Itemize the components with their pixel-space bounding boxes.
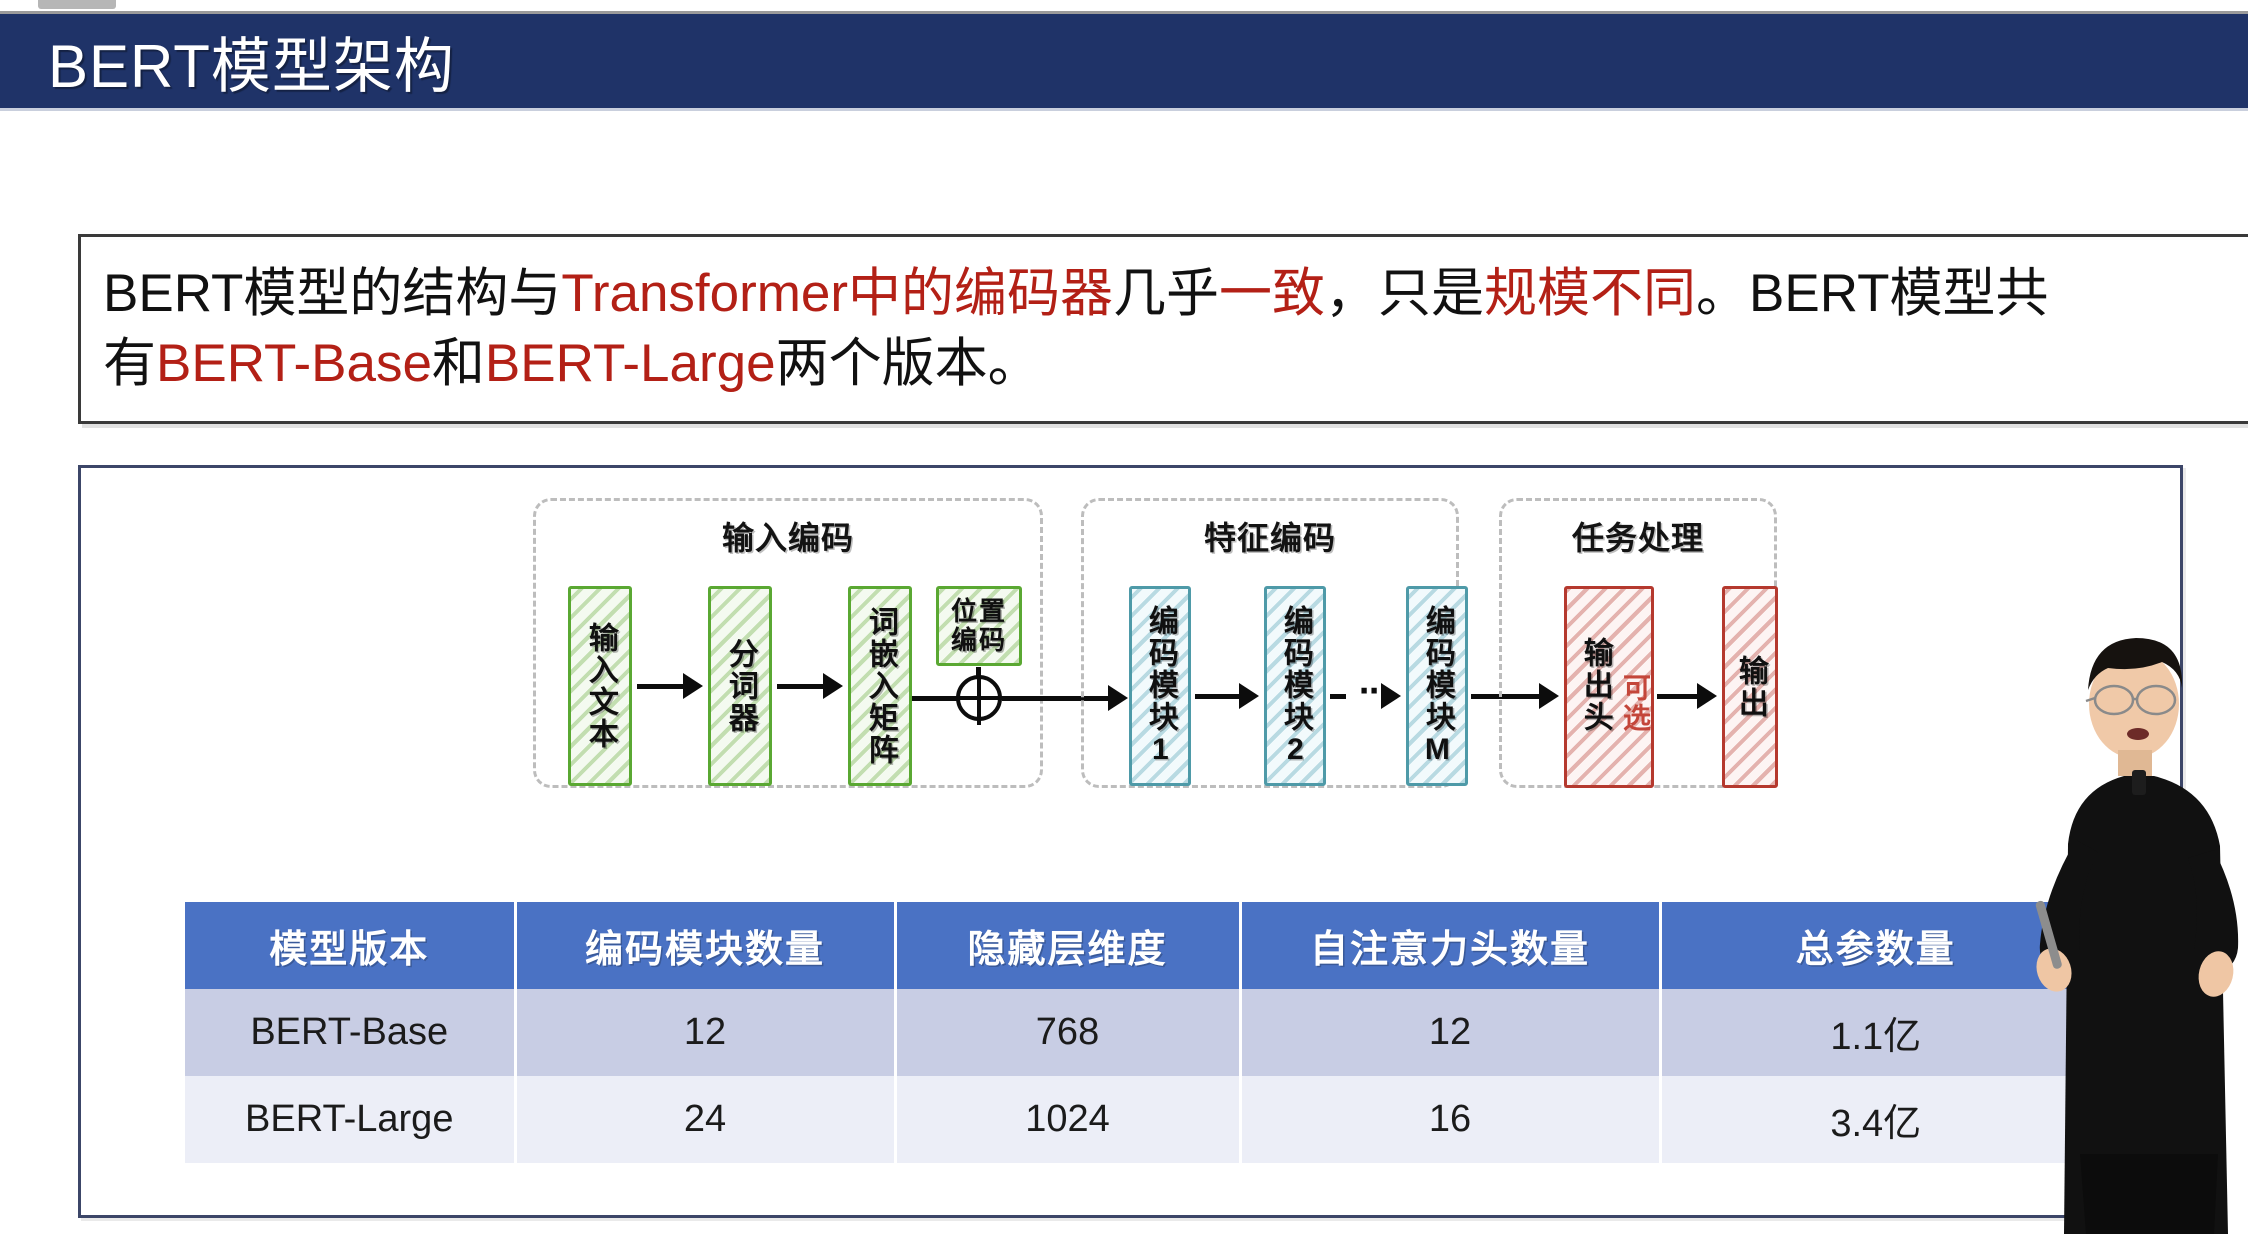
presenter-right-hand bbox=[2194, 948, 2238, 1001]
group-title-feature-encoding: 特征编码 bbox=[1084, 513, 1456, 559]
block-output-head: 输出头 可选 bbox=[1564, 586, 1654, 788]
title-bar-top-divider bbox=[0, 11, 2248, 14]
window-fragment bbox=[38, 0, 116, 9]
model-comparison-table: 模型版本 编码模块数量 隐藏层维度 自注意力头数量 总参数量 BERT-Base… bbox=[185, 902, 2090, 1163]
cell-params: 3.4亿 bbox=[1660, 1076, 2090, 1163]
arrow-head-icon bbox=[683, 673, 703, 699]
arrow-head-icon bbox=[1239, 683, 1259, 709]
cell-encoder-blocks: 12 bbox=[515, 989, 895, 1076]
cell-hidden-dim: 768 bbox=[895, 989, 1240, 1076]
desc-seg-5: ，只是 bbox=[1325, 264, 1484, 323]
desc2-seg-2: BERT-Base bbox=[156, 334, 432, 393]
desc-seg-2: Transformer中的编码器 bbox=[561, 264, 1113, 323]
block-label: 输出 bbox=[1734, 655, 1766, 719]
table-row: BERT-Base 12 768 12 1.1亿 bbox=[185, 989, 2090, 1076]
add-operator-icon bbox=[956, 675, 1002, 721]
block-label: 分词器 bbox=[724, 638, 756, 734]
architecture-diagram: 输入编码 输入文本 分词器 词嵌入矩阵 位置编码 bbox=[81, 468, 2186, 798]
cell-attention-heads: 16 bbox=[1240, 1076, 1660, 1163]
block-input-text: 输入文本 bbox=[568, 586, 632, 786]
arrow-tokenizer-to-embedding bbox=[777, 684, 827, 689]
title-underline bbox=[0, 108, 2248, 111]
column-header-model-version: 模型版本 bbox=[185, 902, 515, 989]
arrow-head-icon bbox=[1381, 683, 1401, 709]
slide-title-bar: BERT模型架构 bbox=[0, 14, 2248, 108]
block-encoder-m: 编码模块M bbox=[1406, 586, 1468, 786]
group-title-task-processing: 任务处理 bbox=[1502, 513, 1774, 559]
cell-hidden-dim: 1024 bbox=[895, 1076, 1240, 1163]
desc2-seg-4: BERT-Large bbox=[485, 334, 776, 393]
cell-model: BERT-Large bbox=[185, 1076, 515, 1163]
desc-seg-6: 规模不同 bbox=[1484, 264, 1696, 323]
desc-seg-7: 。BERT模型共 bbox=[1696, 264, 2048, 323]
cell-model: BERT-Base bbox=[185, 989, 515, 1076]
block-label: 编码模块2 bbox=[1279, 605, 1311, 768]
arrow-input-to-tokenizer bbox=[637, 684, 687, 689]
arrow-head-icon bbox=[1697, 683, 1717, 709]
slide-canvas: BERT模型架构 BERT模型的结构与Transformer中的编码器几乎一致，… bbox=[0, 0, 2248, 1234]
optional-badge: 可选 bbox=[1615, 673, 1655, 733]
desc-seg-4: 一致 bbox=[1219, 264, 1325, 323]
column-header-encoder-blocks: 编码模块数量 bbox=[515, 902, 895, 989]
block-embedding-matrix: 词嵌入矩阵 bbox=[848, 586, 912, 786]
block-tokenizer: 分词器 bbox=[708, 586, 772, 786]
block-output: 输出 bbox=[1722, 586, 1778, 788]
arrow-head-icon bbox=[823, 673, 843, 699]
page-title: BERT模型架构 bbox=[48, 18, 455, 105]
cell-attention-heads: 12 bbox=[1240, 989, 1660, 1076]
block-encoder-1: 编码模块1 bbox=[1129, 586, 1191, 786]
block-label: 输入文本 bbox=[584, 622, 616, 750]
desc2-seg-1: 有 bbox=[103, 334, 156, 393]
block-encoder-2: 编码模块2 bbox=[1264, 586, 1326, 786]
desc2-seg-5: 两个版本。 bbox=[776, 334, 1041, 393]
block-positional-encoding: 位置编码 bbox=[936, 586, 1022, 666]
block-label: 编码模块M bbox=[1421, 605, 1453, 768]
cell-encoder-blocks: 24 bbox=[515, 1076, 895, 1163]
description-line-2: 有BERT-Base和BERT-Large两个版本。 bbox=[103, 329, 2247, 399]
column-header-attention-heads: 自注意力头数量 bbox=[1240, 902, 1660, 989]
desc-seg-1: BERT模型的结构与 bbox=[103, 264, 561, 323]
cell-params: 1.1亿 bbox=[1660, 989, 2090, 1076]
description-line-1: BERT模型的结构与Transformer中的编码器几乎一致，只是规模不同。BE… bbox=[103, 259, 2247, 329]
presenter-right-arm bbox=[2188, 850, 2238, 974]
dashed-continuation bbox=[1330, 694, 1358, 699]
column-header-total-params: 总参数量 bbox=[1660, 902, 2090, 989]
desc2-seg-3: 和 bbox=[432, 334, 485, 393]
block-label: 输出头 bbox=[1579, 637, 1611, 733]
arrow-head-to-output bbox=[1657, 694, 1701, 699]
column-header-hidden-dim: 隐藏层维度 bbox=[895, 902, 1240, 989]
description-callout: BERT模型的结构与Transformer中的编码器几乎一致，只是规模不同。BE… bbox=[78, 234, 2248, 424]
table-header-row: 模型版本 编码模块数量 隐藏层维度 自注意力头数量 总参数量 bbox=[185, 902, 2090, 989]
desc-seg-3: 几乎 bbox=[1113, 264, 1219, 323]
group-title-input-encoding: 输入编码 bbox=[536, 513, 1040, 559]
block-label: 编码模块1 bbox=[1144, 605, 1176, 768]
block-label: 位置编码 bbox=[941, 597, 1017, 655]
arrow-enc1-to-enc2 bbox=[1195, 694, 1243, 699]
table-row: BERT-Large 24 1024 16 3.4亿 bbox=[185, 1076, 2090, 1163]
block-label: 词嵌入矩阵 bbox=[864, 606, 896, 766]
